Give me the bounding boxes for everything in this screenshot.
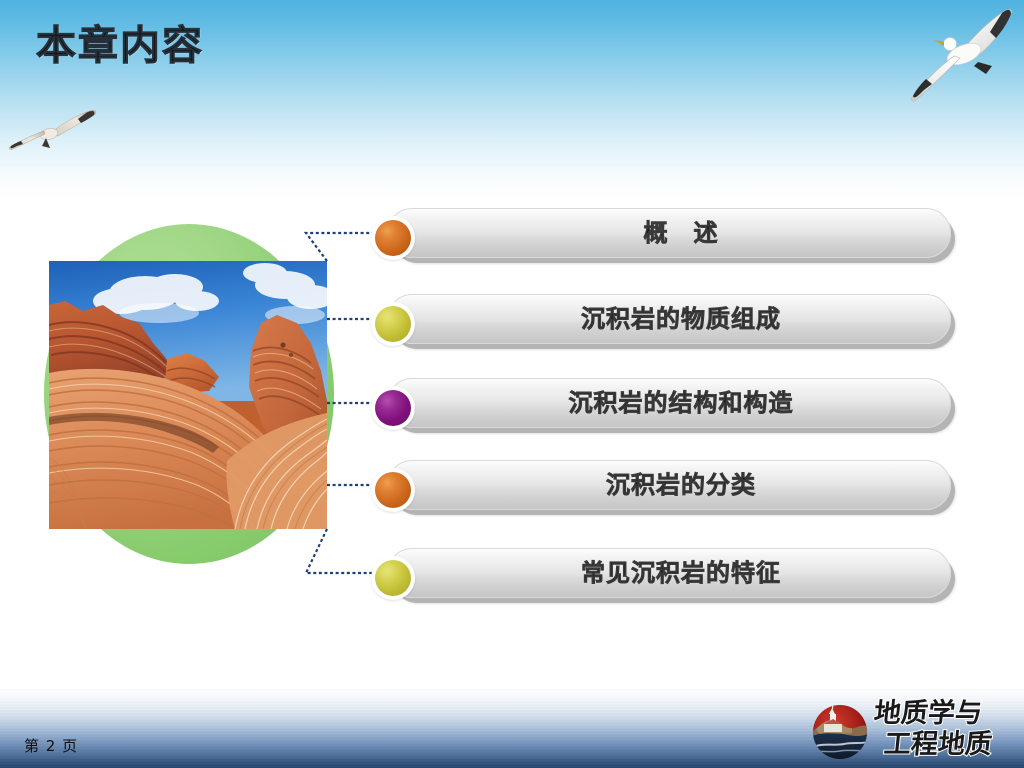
bullet-sphere-icon: [375, 560, 411, 596]
content-item-label: 沉积岩的物质组成: [431, 294, 931, 344]
logo-line-2: 工程地质: [872, 729, 1015, 760]
content-item-2[interactable]: 沉积岩的物质组成: [371, 294, 951, 350]
sedimentary-rock-photo: [49, 261, 327, 529]
bullet-sphere-icon: [375, 306, 411, 342]
content-item-3[interactable]: 沉积岩的结构和构造: [371, 378, 951, 434]
bullet-ring: [371, 556, 415, 600]
content-item-4[interactable]: 沉积岩的分类: [371, 460, 951, 516]
content-item-label: 沉积岩的结构和构造: [431, 378, 931, 428]
globe-icon: [810, 702, 870, 762]
bullet-ring: [371, 216, 415, 260]
logo-line-1: 地质学与: [872, 698, 1015, 729]
course-logo: 地质学与 工程地质: [804, 696, 1016, 764]
page-number: 第 2 页: [24, 735, 78, 756]
bullet-ring: [371, 386, 415, 430]
bullet-sphere-icon: [375, 220, 411, 256]
content-item-label: 概 述: [431, 208, 931, 258]
content-item-label: 沉积岩的分类: [431, 460, 931, 510]
content-item-5[interactable]: 常见沉积岩的特征: [371, 548, 951, 604]
logo-text: 地质学与 工程地质: [874, 698, 1014, 762]
content-item-1[interactable]: 概 述: [371, 208, 951, 264]
bullet-ring: [371, 302, 415, 346]
bullet-ring: [371, 468, 415, 512]
page-title: 本章内容: [36, 22, 204, 70]
seagull-icon: [906, 4, 1016, 116]
seagull-icon: [6, 98, 102, 158]
bullet-sphere-icon: [375, 390, 411, 426]
bullet-sphere-icon: [375, 472, 411, 508]
content-item-label: 常见沉积岩的特征: [431, 548, 931, 598]
slide-canvas: 本章内容: [0, 0, 1024, 768]
